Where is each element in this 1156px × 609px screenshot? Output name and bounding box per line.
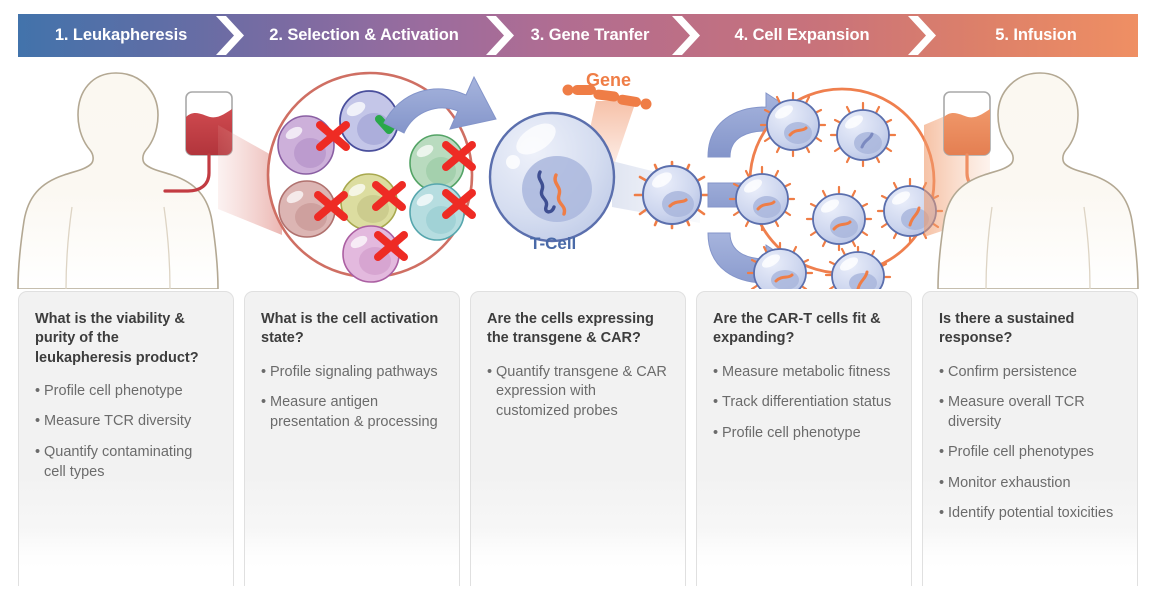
list-item: Monitor exhaustion: [939, 474, 1121, 494]
list-item: Measure TCR diversity: [35, 412, 217, 432]
list-item: Profile cell phenotypes: [939, 443, 1121, 463]
card-title: What is the viability & purity of the le…: [35, 310, 217, 368]
list-item: Identify potential toxicities: [939, 504, 1121, 524]
question-cards-row: What is the viability & purity of the le…: [18, 291, 1138, 586]
question-card-expansion: Are the CAR-T cells fit & expanding? Mea…: [696, 291, 912, 586]
card-bullet-list: Profile signaling pathways Measure antig…: [261, 363, 443, 433]
list-item: Track differentiation status: [713, 393, 895, 413]
card-bullet-list: Profile cell phenotype Measure TCR diver…: [35, 382, 217, 482]
question-card-leukapheresis: What is the viability & purity of the le…: [18, 291, 234, 586]
list-item: Profile cell phenotype: [35, 382, 217, 402]
card-bullet-list: Confirm persistence Measure overall TCR …: [939, 363, 1121, 524]
list-item: Measure antigen presentation & processin…: [261, 393, 443, 432]
process-step-selection-activation[interactable]: 2. Selection & Activation: [242, 14, 486, 57]
question-card-activation: What is the cell activation state? Profi…: [244, 291, 460, 586]
card-title: Are the CAR-T cells fit & expanding?: [713, 310, 895, 349]
t-cell-label: T-Cell: [530, 234, 576, 254]
question-card-response: Is there a sustained response? Confirm p…: [922, 291, 1138, 586]
card-title: Are the cells expressing the transgene &…: [487, 310, 669, 349]
card-title: Is there a sustained response?: [939, 310, 1121, 349]
process-step-leukapheresis[interactable]: 1. Leukapheresis: [26, 14, 216, 57]
list-item: Measure overall TCR diversity: [939, 393, 1121, 432]
list-item: Quantify contaminating cell types: [35, 443, 217, 482]
process-step-infusion[interactable]: 5. Infusion: [936, 14, 1136, 57]
card-bullet-list: Quantify transgene & CAR expression with…: [487, 363, 669, 422]
gene-label: Gene: [586, 70, 631, 91]
chevron-right-icon: [906, 14, 936, 57]
process-step-banner: 1. Leukapheresis 2. Selection & Activati…: [18, 14, 1138, 57]
list-item: Profile cell phenotype: [713, 424, 895, 444]
list-item: Quantify transgene & CAR expression with…: [487, 363, 669, 422]
card-title: What is the cell activation state?: [261, 310, 443, 349]
card-bullet-list: Measure metabolic fitness Track differen…: [713, 363, 895, 444]
list-item: Profile signaling pathways: [261, 363, 443, 383]
chevron-right-icon: [214, 14, 244, 57]
list-item: Measure metabolic fitness: [713, 363, 895, 383]
process-step-cell-expansion[interactable]: 4. Cell Expansion: [696, 14, 908, 57]
question-card-transgene: Are the cells expressing the transgene &…: [470, 291, 686, 586]
process-step-gene-transfer[interactable]: 3. Gene Tranfer: [508, 14, 672, 57]
car-t-workflow-illustration: [0, 57, 1156, 289]
list-item: Confirm persistence: [939, 363, 1121, 383]
t-cell-illustration: [490, 113, 614, 241]
